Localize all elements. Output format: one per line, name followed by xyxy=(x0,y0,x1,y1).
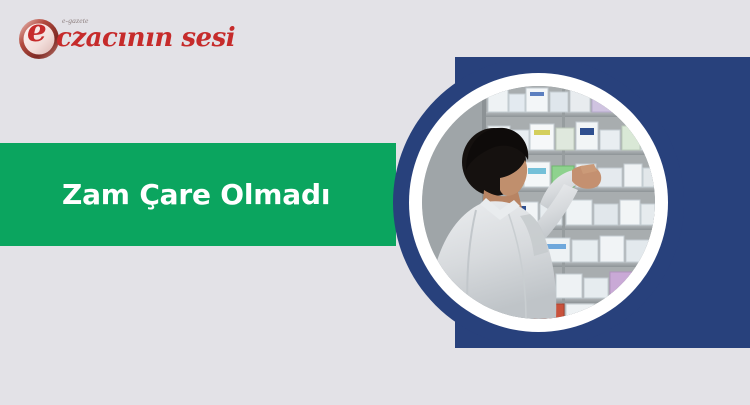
headline-band: Zam Çare Olmadı xyxy=(0,143,396,246)
page-title: Zam Çare Olmadı xyxy=(62,178,330,211)
pharmacist-photo xyxy=(422,86,655,319)
logo-letter-e: e xyxy=(27,16,46,47)
pharmacist-photo-illustration xyxy=(422,86,655,319)
photo-circle-navy-ring xyxy=(393,57,684,348)
news-card: e e-gazete czacının sesi Zam Çare Olmadı xyxy=(0,0,750,405)
logo-wordmark: czacının sesi xyxy=(56,25,235,51)
site-logo[interactable]: e e-gazete czacının sesi xyxy=(18,14,248,62)
